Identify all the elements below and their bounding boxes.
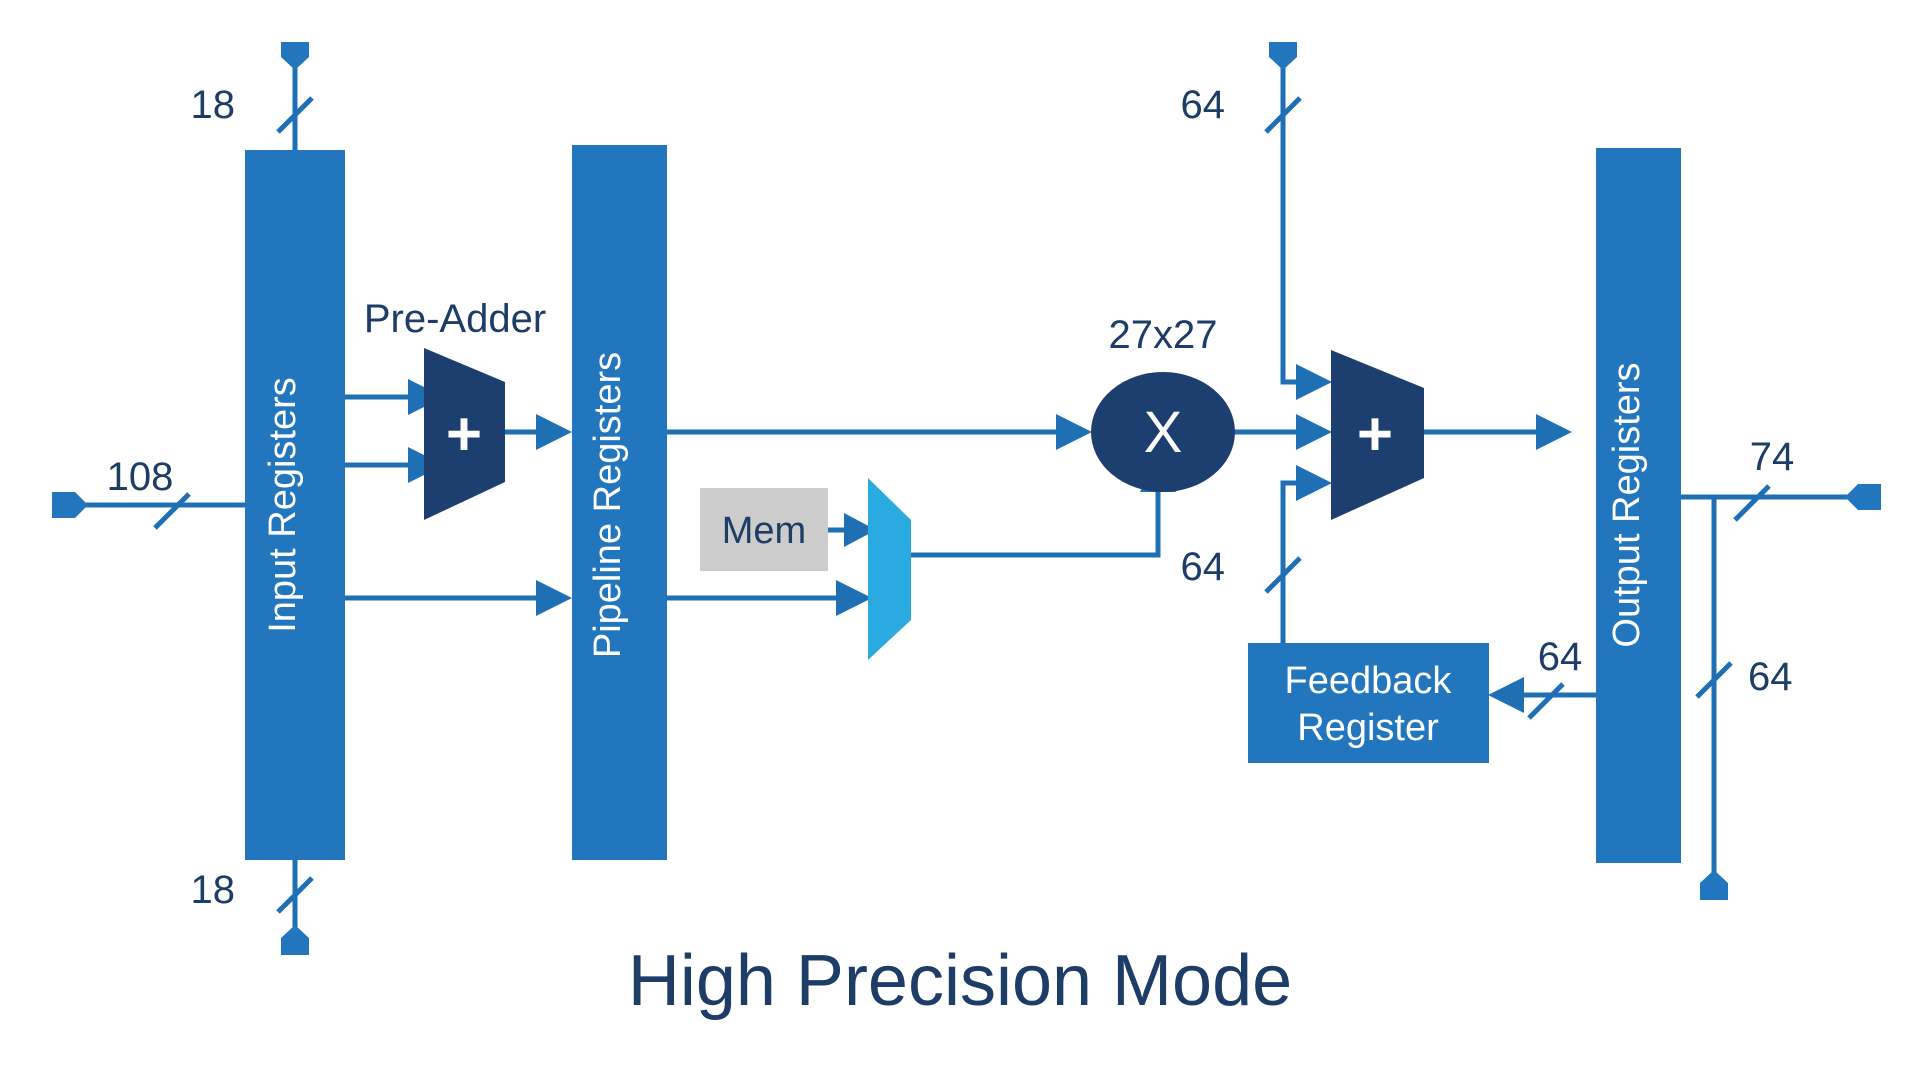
wire-left-input [78,494,245,528]
wire-pipeline-to-multiplier-a [665,414,1092,450]
label-top-right-input-width: 64 [1181,83,1226,127]
diagram-canvas: 18 108 18 64 64 64 74 64 Pre-Adder 27x27… [0,0,1920,1080]
wire-top-right-input [1266,65,1332,400]
glyph-pre-adder-plus: + [446,400,482,469]
glyph-accumulator-plus: + [1357,400,1393,469]
wire-output-secondary [1697,497,1731,880]
wire-outputreg-to-feedback [1488,677,1596,718]
wire-bottom-input [278,860,312,935]
label-left-input-width: 108 [107,455,174,499]
dsp-block-diagram: 18 108 18 64 64 64 74 64 Pre-Adder 27x27… [0,0,1920,1080]
label-output-primary-width: 74 [1750,435,1795,479]
wire-inputreg-to-pipeline-b [345,580,572,616]
label-feedback-register-line2: Register [1297,707,1439,749]
diagram-title: High Precision Mode [628,941,1292,1021]
block-input-mux[interactable] [868,478,911,660]
label-bottom-input-width: 18 [191,868,236,912]
label-input-registers: Input Registers [262,377,304,633]
label-output-registers: Output Registers [1606,362,1648,647]
label-pipeline-registers: Pipeline Registers [587,352,629,658]
label-feedback-register-line1: Feedback [1285,660,1453,702]
port-top-right-input [1269,42,1297,70]
wire-multiplier-to-accumulator [1233,414,1332,450]
port-output-primary [1845,484,1881,510]
label-feedback-in-width: 64 [1538,635,1583,679]
label-pre-adder: Pre-Adder [364,297,546,341]
glyph-multiplier-x: X [1144,400,1183,465]
port-top-input [281,42,309,70]
wire-top-input [278,65,312,150]
label-multiplier-size: 27x27 [1109,313,1218,357]
label-accumulator-feedback-width: 64 [1181,545,1226,589]
wire-preadder-to-pipeline [505,414,572,450]
wire-accumulator-to-outputreg [1424,414,1572,450]
port-output-secondary [1700,870,1728,900]
wire-pipeline-to-mux [665,580,872,616]
wire-feedback-to-accumulator [1266,465,1332,645]
label-top-input-width: 18 [191,83,236,127]
wire-output-primary [1680,486,1855,520]
port-left-input [52,492,88,518]
port-bottom-input [281,925,309,955]
label-output-secondary-width: 64 [1748,655,1793,699]
label-mem: Mem [722,510,806,552]
